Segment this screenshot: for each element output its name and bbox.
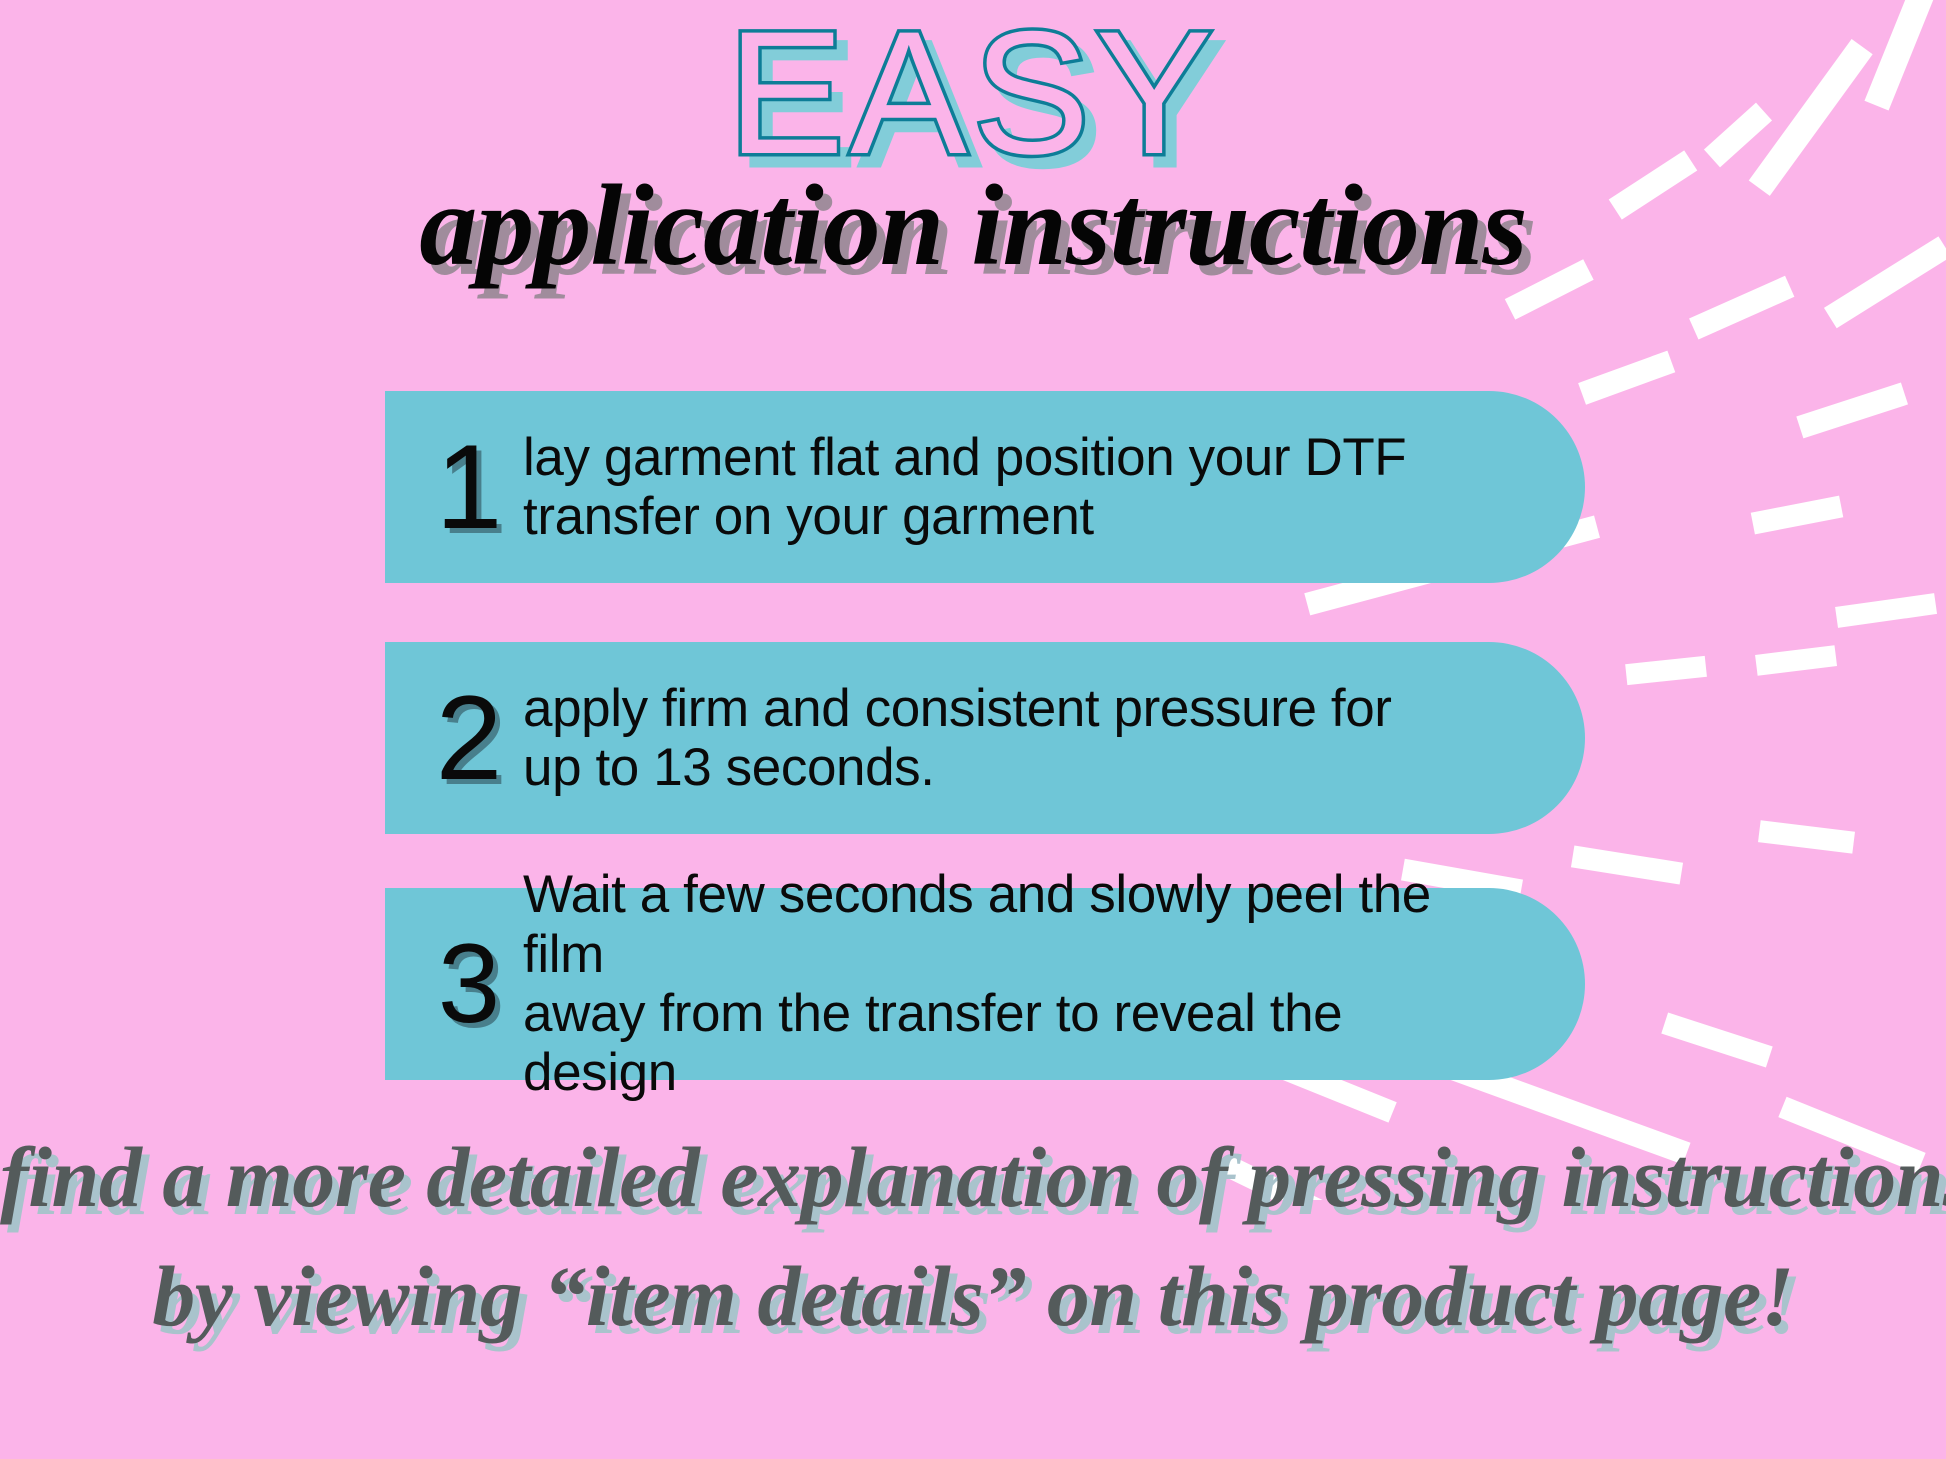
step-line: lay garment flat and position your DTF bbox=[523, 428, 1406, 487]
headline-text: EASY bbox=[728, 0, 1219, 191]
ray bbox=[1758, 820, 1855, 853]
ray bbox=[1578, 351, 1675, 405]
step-number-1: 1 bbox=[415, 430, 523, 544]
step-line: up to 13 seconds. bbox=[523, 738, 935, 797]
step-text-2: apply firm and consistent pressure for u… bbox=[523, 679, 1489, 798]
ray bbox=[1625, 656, 1707, 685]
step-number-3: 3 bbox=[415, 931, 523, 1037]
ray bbox=[1689, 276, 1794, 340]
ray bbox=[1835, 593, 1937, 628]
ray bbox=[1751, 496, 1844, 535]
step-text-1: lay garment flat and position your DTF t… bbox=[523, 428, 1489, 547]
poster-canvas: EASY EASY application instructions 1 lay… bbox=[0, 0, 1946, 1459]
step-number-2: 2 bbox=[415, 681, 523, 795]
footer-line-1: find a more detailed explanation of pres… bbox=[0, 1118, 1946, 1237]
page-title: EASY EASY bbox=[728, 6, 1219, 181]
instruction-step-3: 3 Wait a few seconds and slowly peel the… bbox=[385, 888, 1585, 1080]
step-text-3: Wait a few seconds and slowly peel the f… bbox=[523, 865, 1489, 1102]
footer-note: find a more detailed explanation of pres… bbox=[0, 1118, 1946, 1355]
headline-container: EASY EASY bbox=[0, 6, 1946, 181]
footer-line-2: by viewing “item details” on this produc… bbox=[0, 1237, 1946, 1356]
step-line: Wait a few seconds and slowly peel the f… bbox=[523, 865, 1431, 983]
instruction-step-1: 1 lay garment flat and position your DTF… bbox=[385, 391, 1585, 583]
instruction-step-2: 2 apply firm and consistent pressure for… bbox=[385, 642, 1585, 834]
step-line: away from the transfer to reveal the des… bbox=[523, 984, 1342, 1102]
step-line: transfer on your garment bbox=[523, 487, 1094, 546]
ray bbox=[1755, 645, 1837, 676]
ray bbox=[1571, 846, 1683, 885]
ray bbox=[1661, 1013, 1772, 1068]
step-line: apply firm and consistent pressure for bbox=[523, 679, 1392, 738]
ray bbox=[1796, 383, 1908, 439]
